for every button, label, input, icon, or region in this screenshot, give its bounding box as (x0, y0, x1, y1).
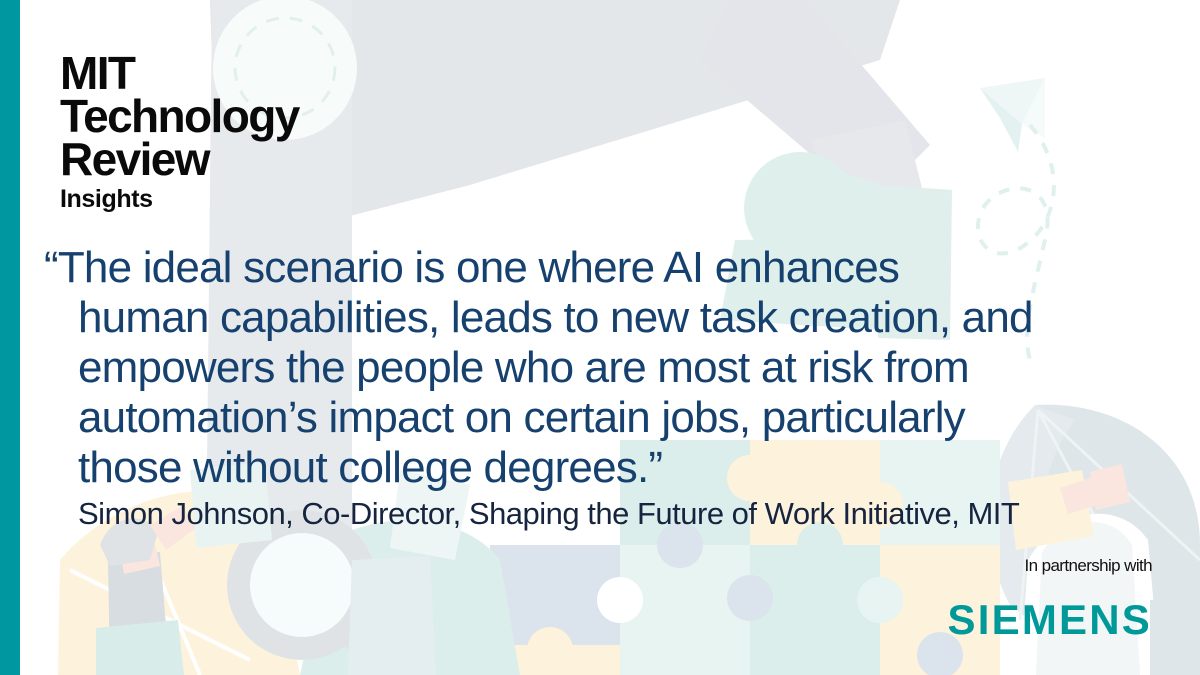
robot-arm-upper (210, 0, 900, 250)
partnership-block: In partnership with SIEMENS (948, 556, 1152, 642)
quote-text: “The ideal scenario is one where AI enha… (44, 243, 1164, 493)
partnership-label: In partnership with (948, 556, 1152, 576)
logo-line-mit: MIT (60, 52, 299, 95)
logo-line-technology: Technology (60, 95, 299, 138)
left-accent-bar (0, 0, 20, 675)
robot-arm-forearm (700, 0, 930, 205)
quote-line-2: human capabilities, leads to new task cr… (44, 293, 1164, 343)
logo-line-review: Review (60, 138, 299, 181)
quote-line-3: empowers the people who are most at risk… (44, 343, 1164, 393)
robot-arm-wrist (812, 120, 925, 222)
robot-top-bubble (1058, 0, 1182, 84)
siemens-logo: SIEMENS (948, 598, 1152, 642)
quote-line-1: “The ideal scenario is one where AI enha… (44, 243, 1164, 293)
quote-attribution: Simon Johnson, Co-Director, Shaping the … (44, 495, 1164, 533)
paper-airplane-icon (980, 78, 1045, 152)
logo-line-insights: Insights (60, 188, 299, 211)
quote-card: MIT Technology Review Insights “The idea… (0, 0, 1200, 675)
quote-line-5: those without college degrees.” (44, 443, 1164, 493)
quote-line-4: automation’s impact on certain jobs, par… (44, 393, 1164, 443)
mit-technology-review-insights-logo: MIT Technology Review Insights (60, 52, 299, 212)
bg-shape-low-left (348, 556, 436, 675)
quote-block: “The ideal scenario is one where AI enha… (44, 243, 1164, 533)
